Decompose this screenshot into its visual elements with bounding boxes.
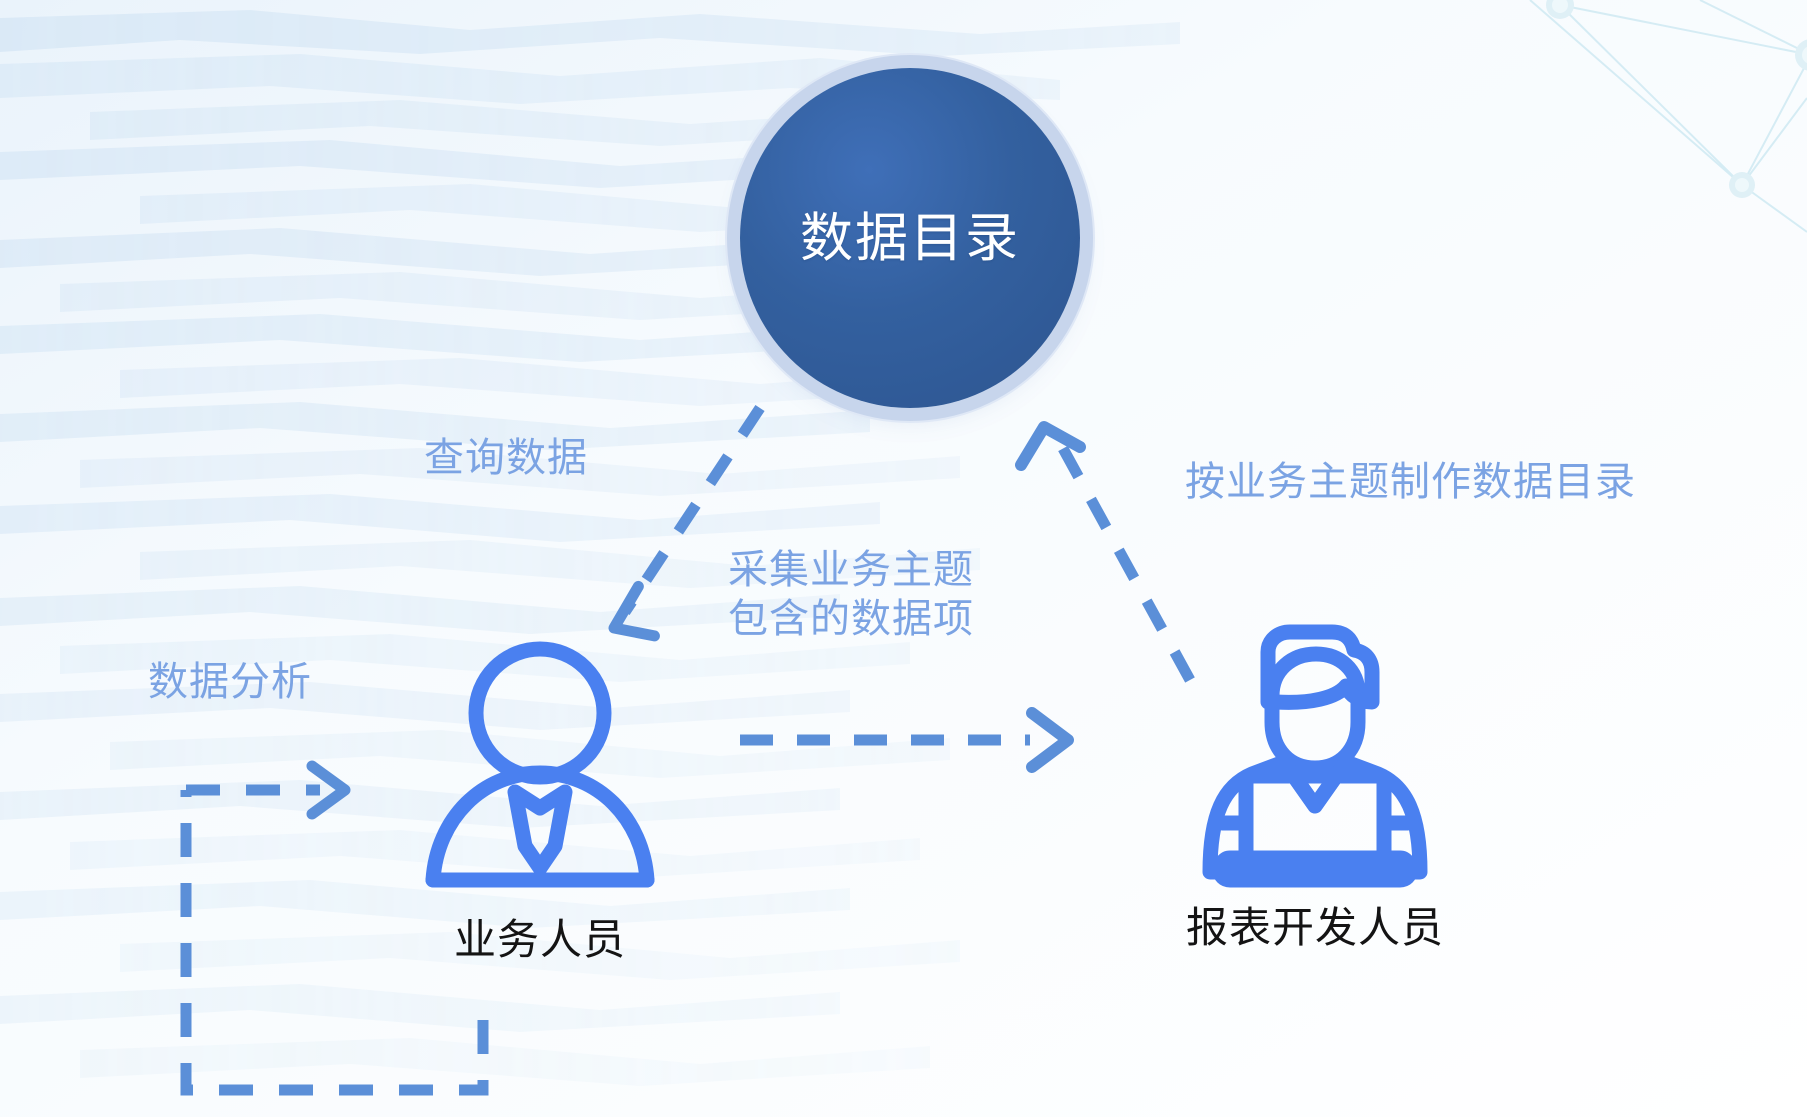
edge-label-query: 查询数据 <box>424 434 588 483</box>
actor-report-developer[interactable]: 报表开发人员 <box>1155 618 1475 955</box>
edge-label-collect: 采集业务主题 包含的数据项 <box>728 546 974 644</box>
actor-report-developer-label: 报表开发人员 <box>1186 894 1444 955</box>
edge-label-collect-line1: 采集业务主题 <box>728 546 974 595</box>
edge-label-collect-line2: 包含的数据项 <box>728 595 974 644</box>
actor-business-person-label: 业务人员 <box>454 906 626 967</box>
business-person-icon <box>415 640 665 900</box>
edge-label-analysis: 数据分析 <box>148 658 312 707</box>
edge-label-make-catalog: 按业务主题制作数据目录 <box>1185 458 1636 507</box>
central-node-data-catalog[interactable]: 数据目录 <box>740 68 1080 408</box>
diagram-canvas: 数据目录 查询数据 按业务主题制作数据目录 采集业务主题 包含的数据项 数据分析… <box>0 0 1807 1117</box>
arrow-collect <box>740 713 1068 767</box>
central-node-label: 数据目录 <box>800 212 1020 265</box>
report-developer-icon <box>1180 618 1450 888</box>
actor-business-person[interactable]: 业务人员 <box>390 640 690 967</box>
